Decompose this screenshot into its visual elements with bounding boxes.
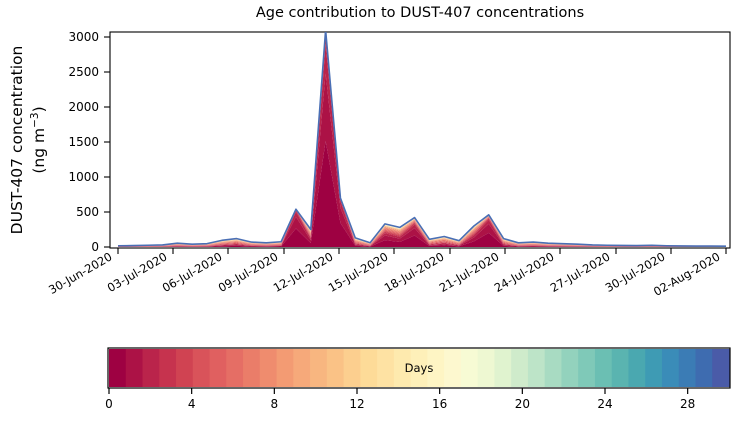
colorbar-band-36 [712,349,729,387]
colorbar-band-35 [695,349,712,387]
colorbar-band-25 [528,349,545,387]
colorbar-band-26 [545,349,562,387]
colorbar-band-32 [645,349,662,387]
colorbar-tick-label-20: 20 [515,397,530,411]
colorbar-band-4 [176,349,193,387]
colorbar-tick-label-12: 12 [349,397,364,411]
colorbar-band-13 [327,349,344,387]
colorbar-tick-label-28: 28 [680,397,695,411]
colorbar-tick-label-8: 8 [271,397,279,411]
colorbar-band-16 [377,349,394,387]
y-tick-2500: 2500 [68,65,99,79]
colorbar-band-0 [109,349,126,387]
colorbar-band-15 [360,349,377,387]
y-tick-1500: 1500 [68,135,99,149]
y-tick-2000: 2000 [68,100,99,114]
colorbar-band-1 [126,349,143,387]
colorbar-band-28 [578,349,595,387]
y-axis-label-line1: DUST-407 concentration [8,46,26,235]
colorbar-band-10 [277,349,294,387]
y-tick-0: 0 [91,240,99,254]
colorbar-band-14 [344,349,361,387]
colorbar-band-27 [561,349,578,387]
colorbar-band-34 [679,349,696,387]
colorbar-band-33 [662,349,679,387]
colorbar-band-23 [494,349,511,387]
colorbar-tick-label-0: 0 [105,397,113,411]
colorbar-band-7 [226,349,243,387]
colorbar-band-5 [193,349,210,387]
colorbar-band-2 [143,349,160,387]
colorbar-band-11 [293,349,310,387]
colorbar-band-21 [461,349,478,387]
y-tick-500: 500 [76,205,99,219]
colorbar-band-8 [243,349,260,387]
colorbar-band-12 [310,349,327,387]
colorbar-tick-label-4: 4 [188,397,196,411]
y-tick-1000: 1000 [68,170,99,184]
colorbar-band-9 [260,349,277,387]
chart-title: Age contribution to DUST-407 concentrati… [256,5,584,21]
colorbar-band-30 [612,349,629,387]
colorbar-band-20 [444,349,461,387]
colorbar-band-29 [595,349,612,387]
colorbar-band-24 [511,349,528,387]
colorbar-band-6 [210,349,227,387]
colorbar-band-3 [159,349,176,387]
colorbar-tick-label-16: 16 [432,397,447,411]
colorbar-band-31 [628,349,645,387]
colorbar-label: Days [405,361,434,375]
chart-svg: Age contribution to DUST-407 concentrati… [0,0,739,425]
chart-figure: Age contribution to DUST-407 concentrati… [0,0,739,425]
colorbar-band-22 [478,349,495,387]
colorbar-tick-label-24: 24 [597,397,612,411]
y-tick-3000: 3000 [68,30,99,44]
